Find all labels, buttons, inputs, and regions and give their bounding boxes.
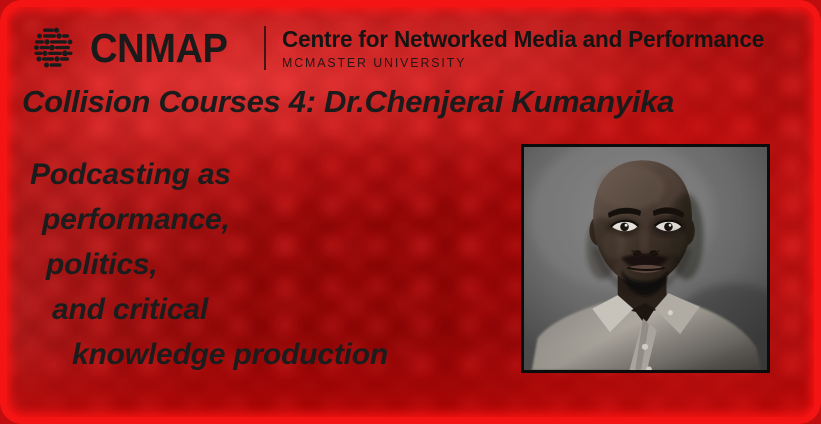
subtitle-line: knowledge production <box>0 332 520 377</box>
slide-title: Collision Courses 4: Dr.Chenjerai Kumany… <box>22 84 812 120</box>
slide-subtitle-block: Podcasting as performance, politics, and… <box>0 152 520 377</box>
subtitle-line: Podcasting as <box>0 152 520 197</box>
speaker-portrait <box>521 144 770 373</box>
university-name: MCMASTER UNIVERSITY <box>282 56 759 70</box>
subtitle-line: and critical <box>0 287 520 332</box>
cnmap-network-circuit-logo-icon <box>30 24 78 72</box>
header-divider <box>264 26 266 70</box>
subtitle-line: performance, <box>0 197 520 242</box>
centre-name: Centre for Networked Media and Performan… <box>282 27 764 52</box>
presentation-slide: CNMAP Centre for Networked Media and Per… <box>0 0 821 424</box>
brand-header: CNMAP Centre for Networked Media and Per… <box>30 24 784 72</box>
header-text-block: Centre for Networked Media and Performan… <box>282 27 784 69</box>
cnmap-wordmark: CNMAP <box>90 28 227 69</box>
subtitle-line: politics, <box>0 242 520 287</box>
